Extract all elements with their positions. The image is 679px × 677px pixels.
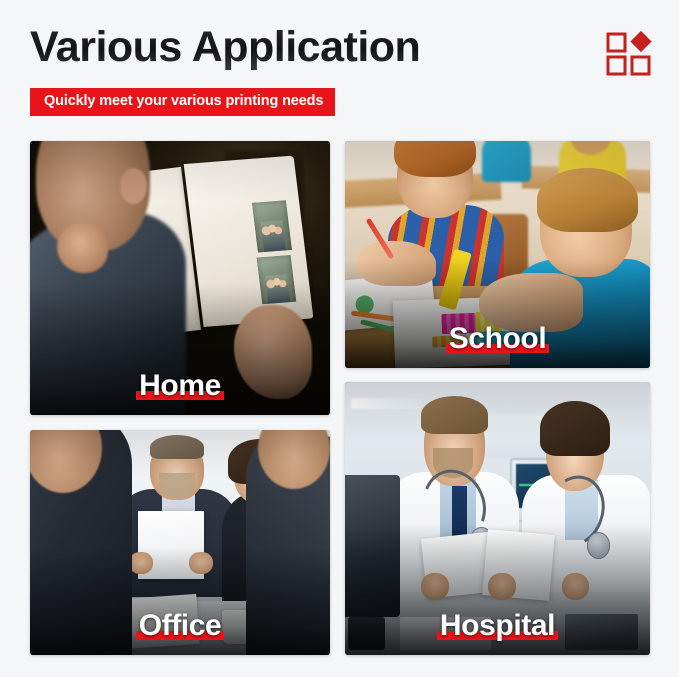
panel-caption-office: Office: [30, 609, 330, 643]
gallery-panel-home[interactable]: Home: [30, 141, 330, 415]
gallery-panel-hospital[interactable]: Hospital: [345, 382, 650, 655]
panel-caption-hospital: Hospital: [345, 609, 650, 643]
caption-label: Home: [139, 369, 221, 403]
panel-caption-home: Home: [30, 369, 330, 403]
gallery-panel-office[interactable]: Office: [30, 430, 330, 655]
application-gallery-grid: Home: [0, 0, 679, 677]
caption-label: Hospital: [440, 609, 555, 643]
panel-caption-school: School: [345, 322, 650, 356]
application-showcase-page: Various Application Quickly meet your va…: [0, 0, 679, 677]
gallery-panel-school[interactable]: School: [345, 141, 650, 368]
caption-label: Office: [139, 609, 222, 643]
caption-label: School: [449, 322, 547, 356]
